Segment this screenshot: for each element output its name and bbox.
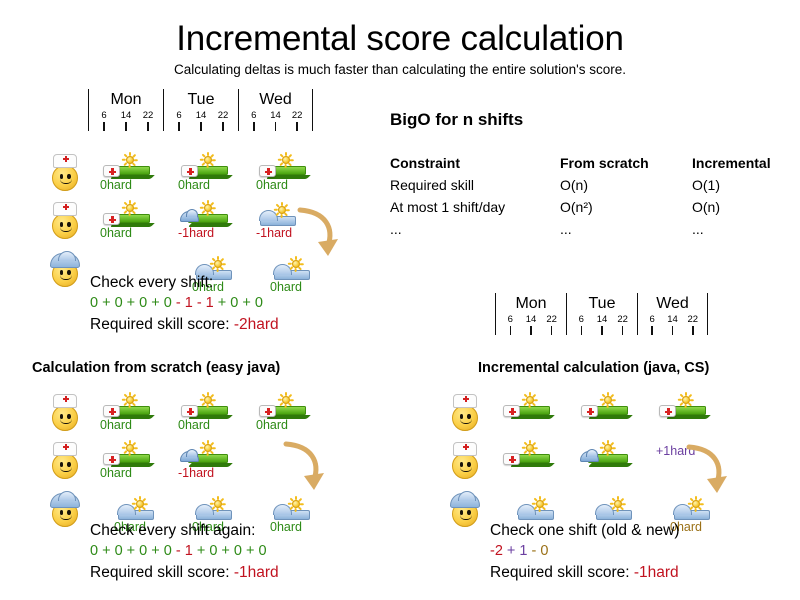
sun-icon [210, 256, 225, 271]
worker-shift-bar [260, 216, 296, 226]
bigo-title: BigO for n shifts [390, 110, 523, 130]
shift-score-label: -1hard [178, 226, 242, 240]
bigo-cell: O(n) [692, 196, 800, 218]
sun-icon [278, 152, 293, 167]
incremental-score-label: Required skill score: [490, 564, 634, 581]
timeline-tick [592, 326, 612, 335]
shift-worker-shift[interactable]: 0hard [270, 254, 334, 298]
timeline-hour-label: 6 [244, 110, 264, 122]
sun-icon [122, 152, 137, 167]
bigo-cell: O(1) [692, 174, 800, 196]
nurse-cap-icon [453, 442, 477, 456]
timeline-hour-labels: 61422 [496, 314, 566, 326]
shift-nurse-shift[interactable]: 0hard [100, 440, 164, 484]
sun-icon [600, 440, 615, 455]
shift-nurse-shift[interactable] [500, 392, 564, 436]
timeline-hour-label: 22 [683, 314, 703, 326]
sun-icon [688, 496, 703, 511]
bigo-row: Required skillO(n)O(1) [390, 174, 800, 196]
nurse-cap-icon [103, 405, 120, 417]
timeline-hour-label: 22 [287, 110, 307, 122]
scratch-summary-text: Check every shift again: 0 + 0 + 0 + 0 -… [90, 520, 279, 583]
hard-hat-icon [180, 451, 199, 462]
shift-score-label: 0hard [100, 226, 164, 240]
shift-nurse-shift[interactable] [500, 440, 564, 484]
timeline-hour-labels: 61422 [239, 110, 312, 122]
page-subtitle: Calculating deltas is much faster than c… [0, 62, 800, 77]
timeline-tick [500, 326, 520, 335]
timeline-tick [287, 122, 307, 131]
top-score-value: -2hard [234, 316, 279, 333]
sum-term: + 1 [507, 543, 532, 559]
shift-helmet-shift[interactable] [578, 440, 642, 484]
nurse-cap-icon [659, 405, 676, 417]
timeline-hour-labels: 61422 [164, 110, 238, 122]
shift-score-label: 0hard [100, 178, 164, 192]
timeline-day-tue: Tue61422 [566, 293, 637, 335]
timeline-tick [191, 122, 211, 131]
shift-score-label: 0hard [270, 520, 334, 534]
worker-shift-bar [518, 510, 554, 520]
hard-hat-icon [50, 493, 80, 508]
heading-from-scratch: Calculation from scratch (easy java) [32, 360, 280, 376]
scratch-score-line: Required skill score: -1hard [90, 562, 279, 583]
bigo-row: ......... [390, 218, 800, 240]
incremental-summary-text: Check one shift (old & new) -2 + 1 - 0 R… [490, 520, 680, 583]
smiley-face-icon [452, 405, 478, 431]
top-score-label: Required skill score: [90, 316, 234, 333]
timeline-hour-label: 22 [542, 314, 562, 326]
smiley-face-icon [52, 213, 78, 239]
smiley-face-icon [52, 453, 78, 479]
sun-icon [122, 392, 137, 407]
shift-score-label: 0hard [256, 418, 320, 432]
incremental-score-value: -1hard [634, 564, 679, 581]
shift-nurse-shift[interactable]: 0hard [100, 152, 164, 196]
shift-score-label: 0hard [100, 466, 164, 480]
shift-nurse-shift[interactable] [578, 392, 642, 436]
scratch-score-label: Required skill score: [90, 564, 234, 581]
shift-nurse-shift[interactable]: 0hard [178, 152, 242, 196]
sun-icon [522, 392, 537, 407]
scratch-score-value: -1hard [234, 564, 279, 581]
timeline-ticks [496, 326, 566, 335]
page-title: Incremental score calculation [0, 18, 800, 60]
timeline-day-label: Tue [567, 293, 637, 314]
sun-icon [200, 152, 215, 167]
shift-score-label: 0hard [178, 178, 242, 192]
sun-icon [122, 200, 137, 215]
timeline-day-mon: Mon61422 [88, 89, 163, 131]
timeline-day-wed: Wed61422 [637, 293, 708, 335]
timeline-hour-labels: 61422 [567, 314, 637, 326]
shift-nurse-shift[interactable]: 0hard [256, 152, 320, 196]
worker-shift-bar [118, 510, 154, 520]
timeline-hour-label: 14 [116, 110, 136, 122]
shift-nurse-shift[interactable]: 0hard [100, 200, 164, 244]
timeline-ticks [164, 122, 238, 131]
shift-nurse-shift[interactable]: 0hard [178, 392, 242, 436]
sum-term: 0 + 0 + 0 + 0 [90, 295, 176, 311]
timeline-hour-label: 6 [571, 314, 591, 326]
avatar-worker [48, 490, 82, 530]
top-sum-line: 0 + 0 + 0 + 0 - 1 - 1 + 0 + 0 [90, 293, 279, 314]
nurse-cap-icon [103, 165, 120, 177]
sum-term: - 1 [176, 543, 197, 559]
timeline-ticks [638, 326, 707, 335]
shift-worker-shift[interactable]: 0hard [270, 494, 334, 538]
timeline-hour-label: 22 [613, 314, 633, 326]
timeline-day-label: Wed [239, 89, 312, 110]
sum-term: + 0 + 0 + 0 [197, 543, 267, 559]
nurse-cap-icon [503, 405, 520, 417]
timeline-tick [244, 122, 264, 131]
timeline-hour-labels: 61422 [638, 314, 707, 326]
nurse-cap-icon [259, 405, 276, 417]
worker-shift-bar [674, 510, 710, 520]
timeline-hour-label: 14 [191, 110, 211, 122]
sun-icon [288, 496, 303, 511]
timeline-hour-label: 22 [138, 110, 158, 122]
sun-icon [678, 392, 693, 407]
timeline-tick [683, 326, 703, 335]
nurse-cap-icon [53, 442, 77, 456]
timeline-ticks [239, 122, 312, 131]
timeline-hour-label: 14 [265, 110, 285, 122]
timeline-tick [265, 122, 285, 131]
bigo-table: ConstraintFrom scratchIncrementalRequire… [390, 152, 800, 240]
move-arrow-scratch [282, 440, 328, 494]
timeline-tick [613, 326, 633, 335]
timeline-ticks [567, 326, 637, 335]
move-arrow-incremental [685, 443, 731, 497]
sun-icon [200, 200, 215, 215]
timeline-tick [116, 122, 136, 131]
top-score-line: Required skill score: -2hard [90, 314, 279, 335]
nurse-cap-icon [53, 202, 77, 216]
timeline-tick [642, 326, 662, 335]
avatar-worker [48, 250, 82, 290]
nurse-cap-icon [103, 453, 120, 465]
bigo-header-row: ConstraintFrom scratchIncremental [390, 152, 800, 174]
sun-icon [278, 392, 293, 407]
shift-worker-shift[interactable]: 0hard [670, 494, 734, 538]
bigo-cell: Required skill [390, 174, 560, 196]
sun-icon [132, 496, 147, 511]
shift-nurse-shift[interactable]: 0hard [256, 392, 320, 436]
timeline-day-label: Mon [496, 293, 566, 314]
avatar-nurse [48, 202, 82, 242]
nurse-cap-icon [259, 165, 276, 177]
shift-score-label: 0hard [270, 280, 334, 294]
bigo-header-cell: Incremental [692, 152, 800, 174]
sun-icon [522, 440, 537, 455]
timeline-tick [521, 326, 541, 335]
timeline-day-label: Tue [164, 89, 238, 110]
top-check-line: Check every shift: [90, 272, 279, 293]
sum-term: - 1 - 1 [176, 295, 218, 311]
top-summary-text: Check every shift: 0 + 0 + 0 + 0 - 1 - 1… [90, 272, 279, 335]
shift-helmet-shift[interactable]: -1hard [178, 200, 242, 244]
timeline-tick [138, 122, 158, 131]
worker-shift-bar [596, 510, 632, 520]
nurse-cap-icon [581, 405, 598, 417]
timeline-day-tue: Tue61422 [163, 89, 238, 131]
scratch-sum-line: 0 + 0 + 0 + 0 - 1 + 0 + 0 + 0 [90, 541, 279, 562]
timeline-hour-label: 22 [213, 110, 233, 122]
timeline-tick [94, 122, 114, 131]
hard-hat-icon [450, 493, 480, 508]
timeline-top: Mon61422Tue61422Wed61422 [88, 89, 313, 131]
timeline-hour-label: 6 [169, 110, 189, 122]
timeline-hour-label: 14 [521, 314, 541, 326]
nurse-cap-icon [181, 405, 198, 417]
smiley-face-icon [452, 453, 478, 479]
hard-hat-icon [50, 253, 80, 268]
timeline-day-mon: Mon61422 [495, 293, 566, 335]
worker-shift-bar [196, 510, 232, 520]
timeline-hour-label: 14 [592, 314, 612, 326]
sum-term: - 0 [532, 543, 549, 559]
timeline-bottom: Mon61422Tue61422Wed61422 [495, 293, 708, 335]
move-arrow-top [296, 206, 342, 260]
nurse-cap-icon [53, 154, 77, 168]
nurse-cap-icon [453, 394, 477, 408]
avatar-nurse [48, 394, 82, 434]
hard-hat-icon [580, 451, 599, 462]
hard-hat-icon [180, 211, 199, 222]
shift-helmet-shift[interactable]: -1hard [178, 440, 242, 484]
bigo-cell: ... [390, 218, 560, 240]
timeline-tick [169, 122, 189, 131]
timeline-tick [213, 122, 233, 131]
incremental-score-line: Required skill score: -1hard [490, 562, 680, 583]
incremental-sum-line: -2 + 1 - 0 [490, 541, 680, 562]
timeline-hour-label: 6 [94, 110, 114, 122]
slide-canvas: Incremental score calculation Calculatin… [0, 0, 800, 600]
sun-icon [200, 440, 215, 455]
shift-nurse-shift[interactable]: 0hard [100, 392, 164, 436]
timeline-day-label: Mon [89, 89, 163, 110]
shift-score-label: -1hard [178, 466, 242, 480]
sum-term: 0 + 0 + 0 + 0 [90, 543, 176, 559]
shift-score-label: 0hard [178, 418, 242, 432]
sun-icon [210, 496, 225, 511]
sum-term: -2 [490, 543, 507, 559]
timeline-tick [662, 326, 682, 335]
avatar-nurse [448, 394, 482, 434]
sun-icon [274, 202, 289, 217]
bigo-cell: O(n²) [560, 196, 692, 218]
bigo-cell: O(n) [560, 174, 692, 196]
shift-nurse-shift[interactable] [656, 392, 720, 436]
avatar-nurse [48, 442, 82, 482]
smiley-face-icon [52, 405, 78, 431]
worker-shift-bar [274, 270, 310, 280]
sun-icon [600, 392, 615, 407]
bigo-header-cell: From scratch [560, 152, 692, 174]
timeline-hour-label: 14 [662, 314, 682, 326]
sun-icon [200, 392, 215, 407]
smiley-face-icon [52, 165, 78, 191]
sun-icon [122, 440, 137, 455]
sun-icon [532, 496, 547, 511]
nurse-cap-icon [53, 394, 77, 408]
shift-score-label: 0hard [100, 418, 164, 432]
timeline-hour-label: 6 [642, 314, 662, 326]
nurse-cap-icon [181, 165, 198, 177]
timeline-day-wed: Wed61422 [238, 89, 313, 131]
nurse-cap-icon [503, 453, 520, 465]
sum-term: + 0 + 0 [218, 295, 263, 311]
shift-score-label: 0hard [670, 520, 734, 534]
timeline-day-label: Wed [638, 293, 707, 314]
bigo-row: At most 1 shift/dayO(n²)O(n) [390, 196, 800, 218]
timeline-tick [542, 326, 562, 335]
bigo-header-cell: Constraint [390, 152, 560, 174]
timeline-ticks [89, 122, 163, 131]
shift-score-label: 0hard [256, 178, 320, 192]
timeline-hour-labels: 61422 [89, 110, 163, 122]
bigo-cell: ... [560, 218, 692, 240]
scratch-check-line: Check every shift again: [90, 520, 279, 541]
incremental-check-line: Check one shift (old & new) [490, 520, 680, 541]
avatar-nurse [448, 442, 482, 482]
avatar-nurse [48, 154, 82, 194]
nurse-cap-icon [103, 213, 120, 225]
heading-incremental: Incremental calculation (java, CS) [478, 360, 709, 376]
timeline-tick [571, 326, 591, 335]
bigo-cell: At most 1 shift/day [390, 196, 560, 218]
timeline-hour-label: 6 [500, 314, 520, 326]
bigo-cell: ... [692, 218, 800, 240]
sun-icon [610, 496, 625, 511]
worker-shift-bar [274, 510, 310, 520]
avatar-worker [448, 490, 482, 530]
